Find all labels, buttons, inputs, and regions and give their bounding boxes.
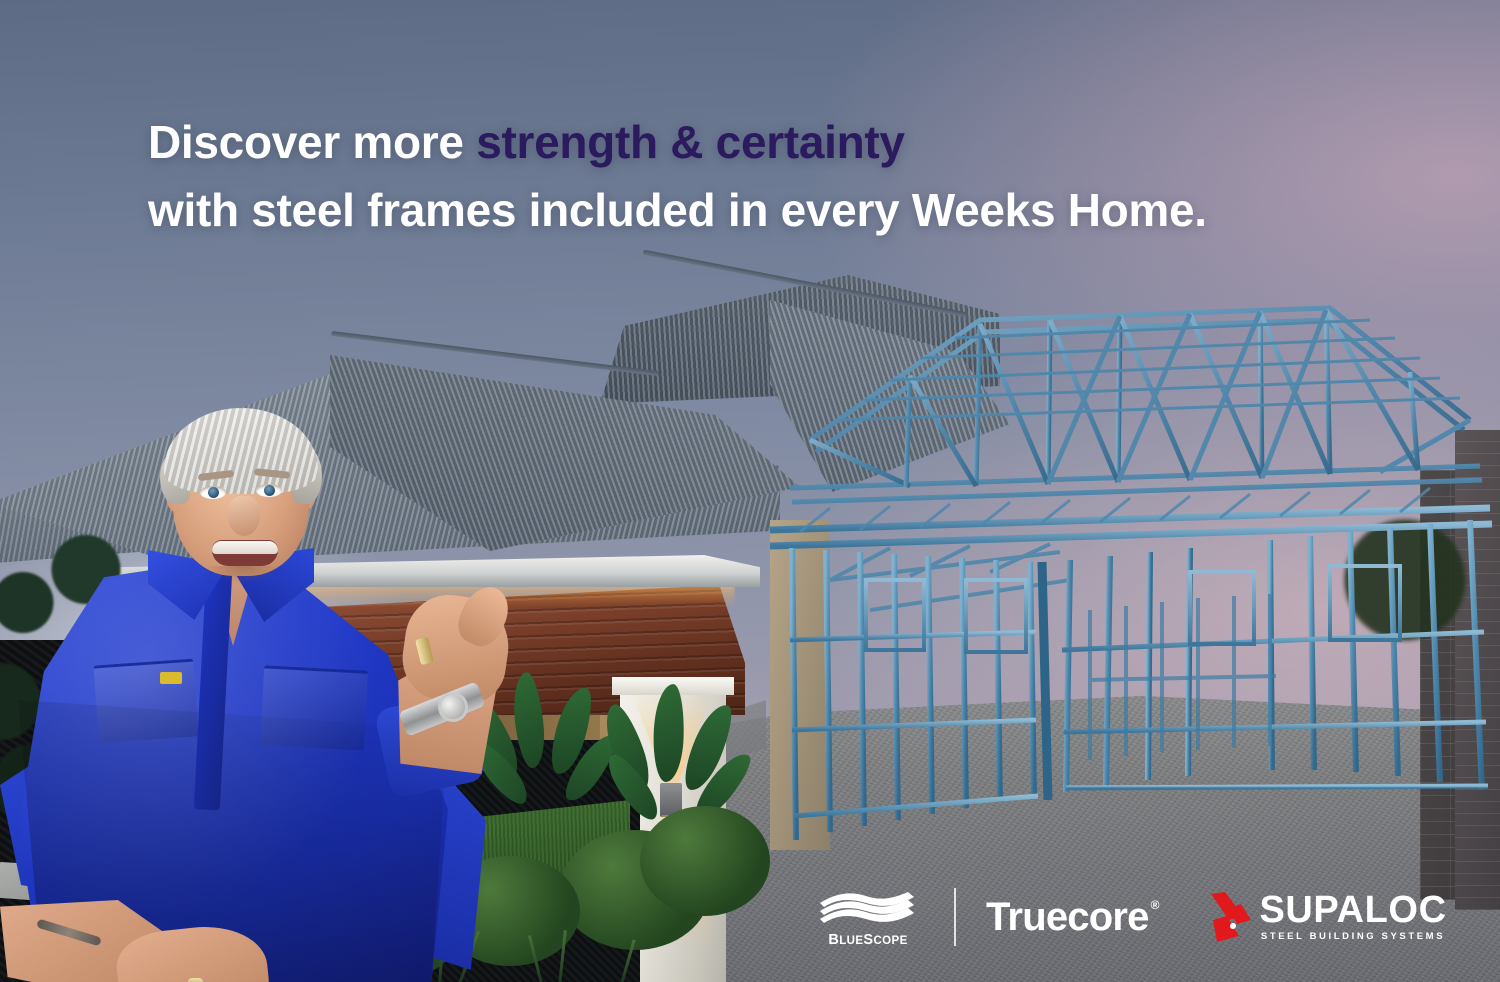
iris-left [208, 487, 219, 498]
bs-letters-cope: COPE [873, 935, 907, 947]
supaloc-text-block: SUPALOC STEEL BUILDING SYSTEMS [1259, 892, 1446, 942]
grey-hair [164, 408, 318, 494]
steel-frame-structure [770, 280, 1500, 840]
chin-shadow [206, 566, 280, 584]
ring-left-hand [188, 978, 203, 982]
registered-trademark-icon: ® [1151, 898, 1160, 912]
partner-logo-bar: BLUESCOPE Truecore ® SUPALOC STEEL BUILD… [812, 878, 1447, 956]
truecore-wordmark: Truecore [986, 896, 1149, 938]
nose [228, 496, 260, 536]
person-builder [0, 400, 520, 982]
bluescope-logo[interactable]: BLUESCOPE [812, 887, 924, 948]
smiling-mouth [212, 540, 278, 566]
bluescope-wordmark: BLUESCOPE [828, 932, 907, 948]
bs-letters-lue: LUE [839, 935, 863, 947]
advertisement-banner: Discover more strength & certainty with … [0, 0, 1500, 982]
headline-plain-text: Discover more [148, 116, 476, 168]
supaloc-logo[interactable]: SUPALOC STEEL BUILDING SYSTEMS [1209, 890, 1446, 944]
headline-line-1: Discover more strength & certainty [148, 108, 1358, 176]
truecore-logo[interactable]: Truecore ® [986, 896, 1159, 938]
steel-frame-svg [770, 280, 1500, 840]
bs-letter-b: B [828, 932, 839, 948]
tc-letters-post: re [1112, 895, 1148, 939]
teeth [212, 541, 278, 554]
bluescope-layered-steel-mark [816, 887, 920, 931]
tc-center-dot [1096, 915, 1105, 924]
page-title: Discover more strength & certainty with … [148, 108, 1358, 244]
tc-letter-o-target: o [1089, 896, 1113, 938]
round-shrub [640, 806, 770, 916]
supaloc-red-arrow-mark [1209, 890, 1255, 944]
shirt-brand-tag [160, 672, 182, 684]
shirt-pocket-left [93, 659, 198, 744]
supaloc-tagline: STEEL BUILDING SYSTEMS [1259, 931, 1446, 942]
headline-accent-text: strength & certainty [476, 116, 905, 168]
shirt-pocket-right [260, 665, 368, 750]
bs-letter-s: S [863, 932, 873, 948]
supaloc-wordmark: SUPALOC [1259, 892, 1446, 928]
iris-right [264, 485, 275, 496]
logo-divider [954, 888, 956, 946]
headline-line-2: with steel frames included in every Week… [148, 176, 1358, 244]
tc-letters-pre: Truec [986, 895, 1089, 939]
